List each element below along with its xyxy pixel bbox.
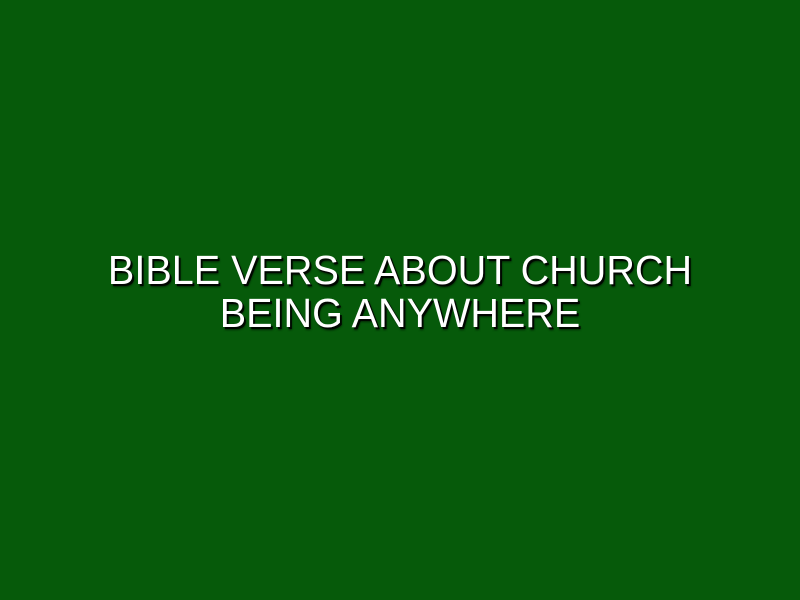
title-block: BIBLE VERSE ABOUT CHURCH BEING ANYWHERE: [0, 249, 800, 335]
hero-banner: BIBLE VERSE ABOUT CHURCH BEING ANYWHERE: [0, 0, 800, 600]
page-title: BIBLE VERSE ABOUT CHURCH BEING ANYWHERE: [53, 249, 748, 335]
